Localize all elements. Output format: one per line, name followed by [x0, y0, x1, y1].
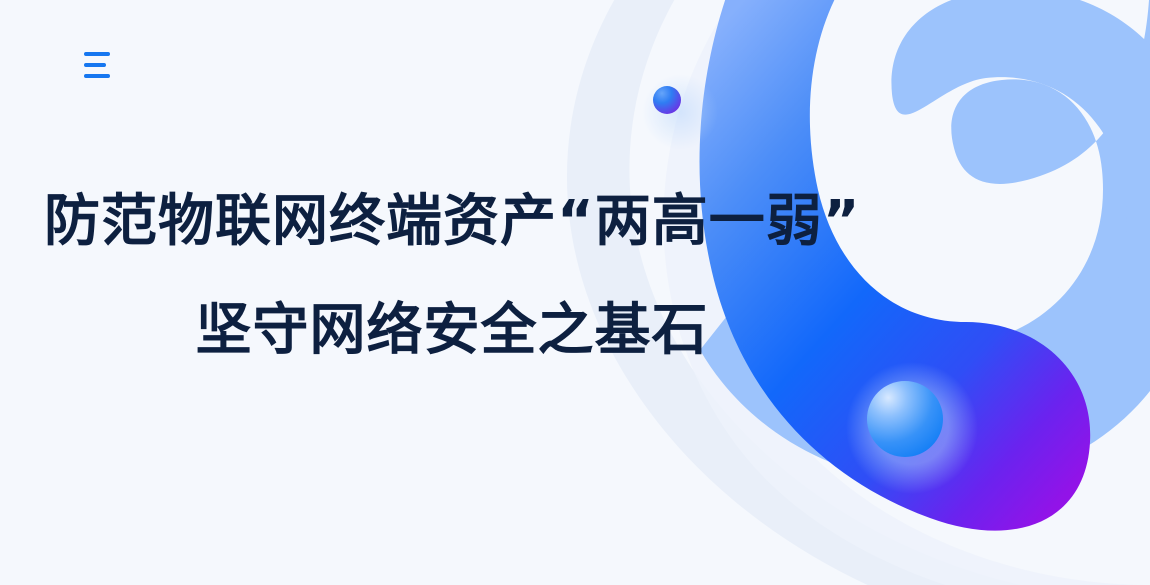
menu-bar-top	[84, 52, 110, 56]
page-title: 防范物联网终端资产“两高一弱” 坚守网络安全之基石	[0, 186, 860, 368]
slide-canvas: 防范物联网终端资产“两高一弱” 坚守网络安全之基石	[0, 0, 1150, 585]
large-blue-sphere	[846, 362, 978, 494]
hamburger-menu-icon[interactable]	[84, 52, 114, 78]
title-line-1: 防范物联网终端资产“两高一弱”	[0, 186, 860, 259]
menu-bar-middle	[84, 63, 106, 67]
small-gradient-sphere	[642, 74, 718, 150]
menu-bar-bottom	[84, 74, 110, 78]
title-line-2: 坚守网络安全之基石	[0, 295, 860, 368]
